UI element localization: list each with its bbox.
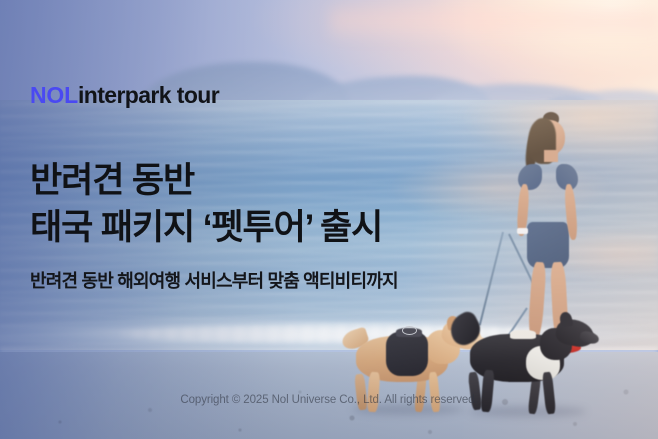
page-title: 반려견 동반 태국 패키지 ‘펫투어’ 출시	[30, 158, 382, 252]
dog-harness	[502, 334, 542, 376]
headline-line-2: 태국 패키지 ‘펫투어’ 출시	[30, 205, 382, 252]
brand-mark-nol: NOL	[30, 82, 78, 108]
headline-line-1: 반려견 동반	[30, 158, 382, 205]
brand-logo[interactable]: NOLinterpark tour	[30, 84, 219, 107]
dog-leg	[542, 372, 556, 415]
cloud-band	[330, 2, 658, 38]
dog-leg	[367, 372, 381, 413]
dog-harness-ring	[402, 326, 417, 335]
subheadline: 반려견 동반 해외여행 서비스부터 맞춤 액티비티까지	[30, 271, 398, 293]
dog-ear	[559, 311, 574, 328]
brand-name-interpark-tour: interpark tour	[78, 82, 219, 108]
dog-leg	[428, 372, 440, 413]
promo-banner: NOLinterpark tour 반려견 동반 태국 패키지 ‘펫투어’ 출시…	[0, 0, 658, 439]
dog-harness-strap	[510, 330, 536, 339]
wrist-watch	[517, 228, 528, 234]
copyright-notice: Copyright © 2025 Nol Universe Co., Ltd. …	[0, 394, 658, 406]
dog-harness	[386, 332, 428, 376]
black-white-dog-figure	[448, 312, 600, 424]
